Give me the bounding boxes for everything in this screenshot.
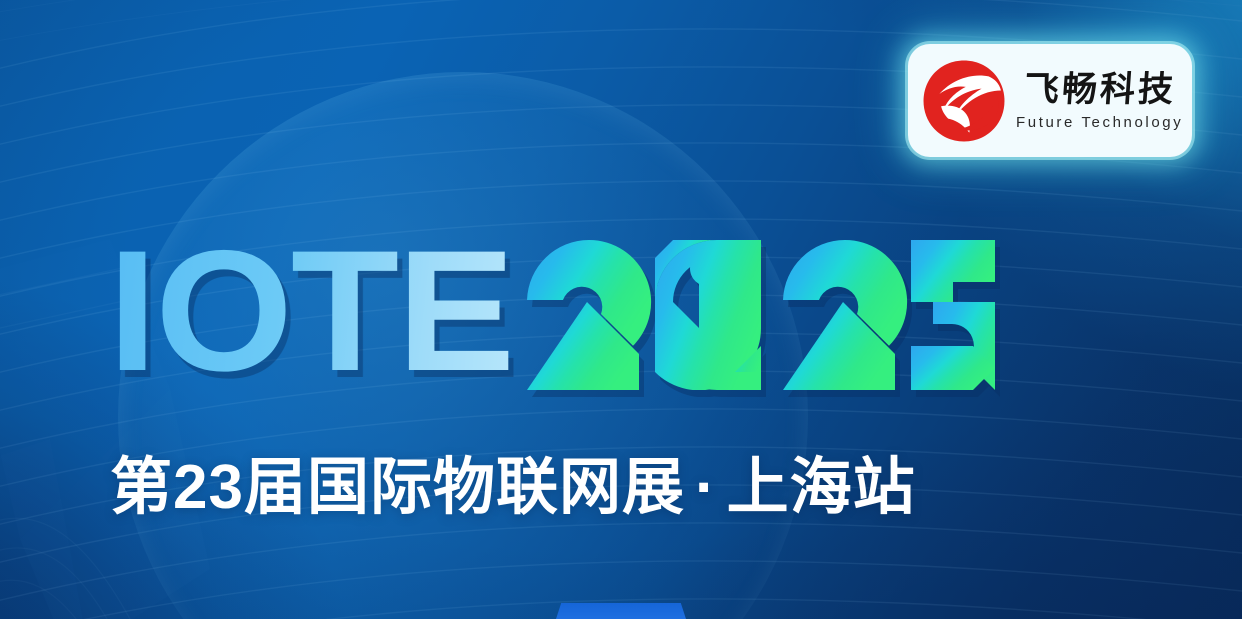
event-subtitle: 第23届国际物联网展·上海站 bbox=[110, 452, 916, 524]
bottom-accent-chip bbox=[556, 603, 686, 619]
feichang-red-circle-logo-icon bbox=[920, 57, 1008, 145]
year-digit-0 bbox=[655, 240, 761, 390]
logo-company-name-cn: 飞畅科技 bbox=[1022, 70, 1177, 110]
subtitle-suffix: 上海站 bbox=[727, 453, 916, 522]
year-digit-5 bbox=[911, 240, 995, 390]
logo-company-name-en: Future Technology bbox=[1016, 114, 1183, 132]
iote-brand-text: IOTE bbox=[108, 236, 513, 386]
event-wordmark: IOTE bbox=[108, 236, 995, 396]
year-digit-2-second bbox=[783, 240, 907, 390]
iote-2025-banner: IOTE bbox=[0, 0, 1242, 619]
subtitle-separator: · bbox=[685, 453, 727, 522]
sponsor-logo-badge[interactable]: 飞畅科技 Future Technology bbox=[908, 44, 1192, 157]
year-2025-graphic bbox=[527, 240, 995, 390]
year-digit-2-first bbox=[527, 240, 651, 390]
subtitle-prefix: 第23届国际物联网展 bbox=[110, 453, 685, 522]
